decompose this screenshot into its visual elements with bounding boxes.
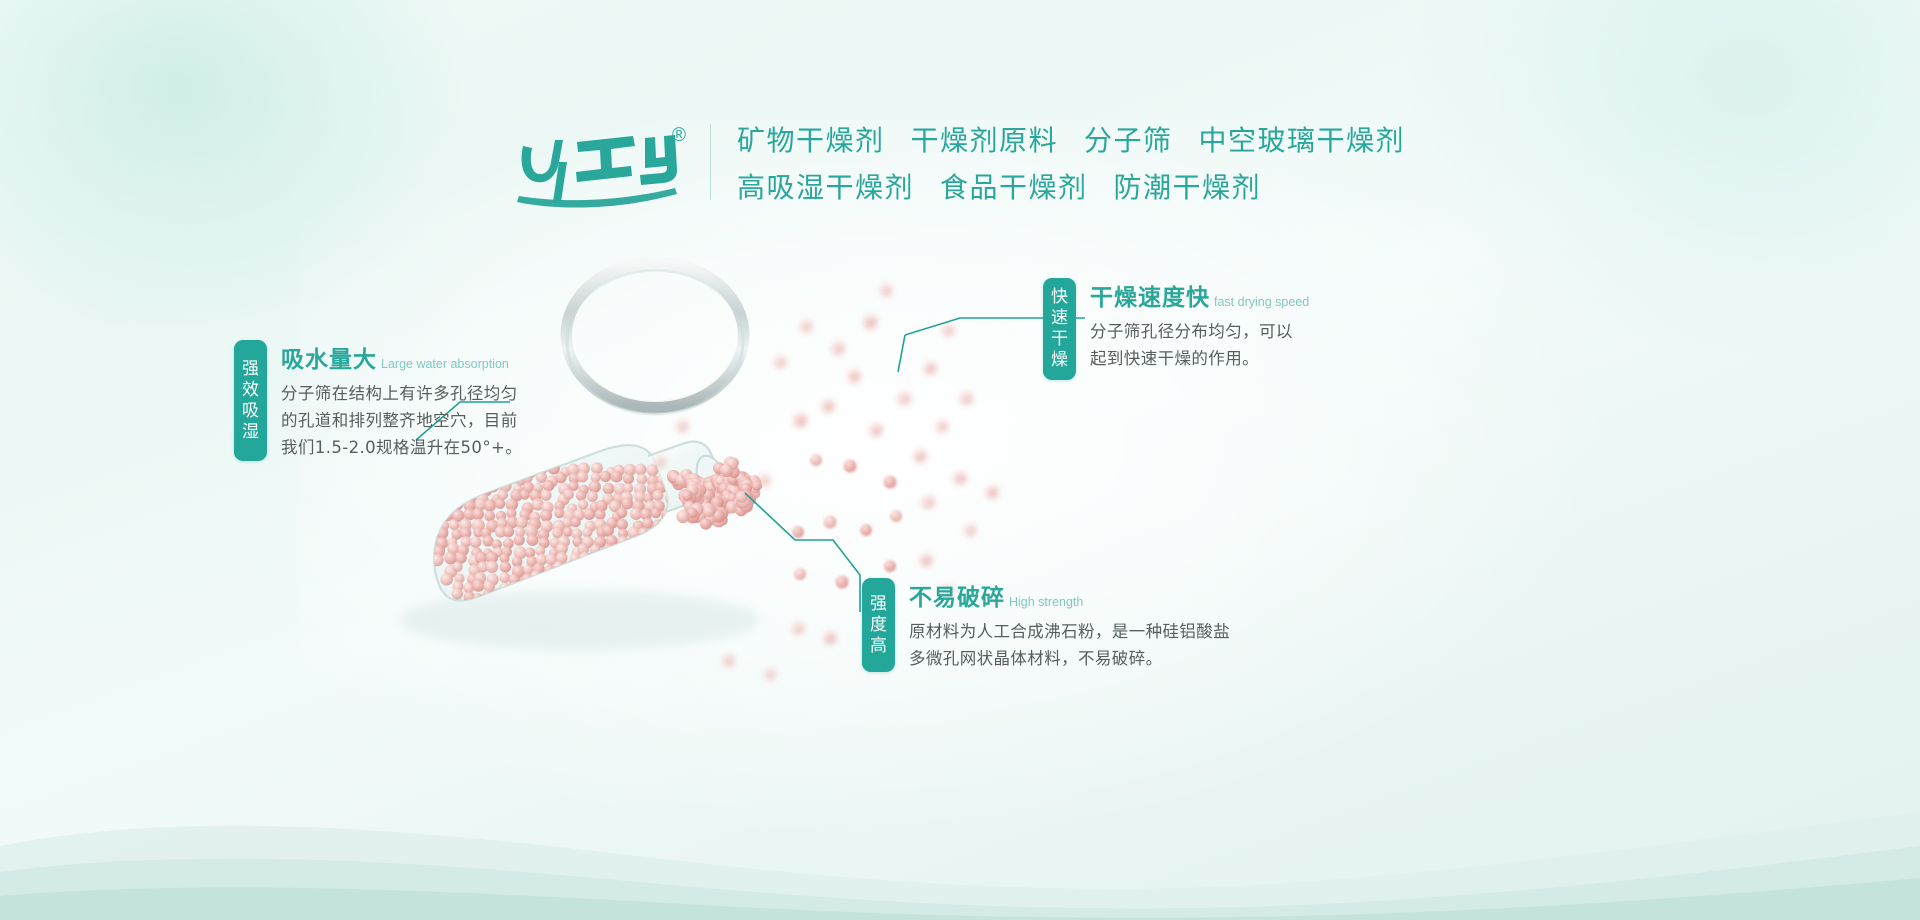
brand-logo[interactable]: ® xyxy=(502,116,692,208)
annotation-text: 原材料为人工合成沸石粉，是一种硅铝酸盐 多微孔网状晶体材料，不易破碎。 xyxy=(909,618,1230,672)
metal-lid-ring xyxy=(567,263,743,414)
badge-fast-drying: 快 速 干 燥 xyxy=(1043,278,1076,380)
annotation-fast-drying-speed: 快 速 干 燥 干燥速度快 fast drying speed 分子筛孔径分布均… xyxy=(1043,278,1309,380)
annotation-title: 不易破碎 xyxy=(909,578,1005,612)
annotation-high-strength: 强 度 高 不易破碎 High strength 原材料为人工合成沸石粉，是一种… xyxy=(862,578,1230,672)
annotation-text-line: 分子筛在结构上有许多孔径均匀 xyxy=(281,380,522,407)
annotation-text: 分子筛在结构上有许多孔径均匀 的孔道和排列整齐地空穴，目前 我们1.5-2.0规… xyxy=(281,380,522,461)
badge-char: 湿 xyxy=(242,422,259,443)
site-header: ® 矿物干燥剂 干燥剂原料 分子筛 中空玻璃干燥剂 高吸湿干燥剂 食品干燥剂 防… xyxy=(0,112,1920,212)
annotation-title: 吸水量大 xyxy=(281,340,377,374)
annotation-text-line: 多微孔网状晶体材料，不易破碎。 xyxy=(909,645,1230,672)
keyword-nav-row: 高吸湿干燥剂 食品干燥剂 防潮干燥剂 xyxy=(737,166,1418,206)
nav-item-food-desiccant[interactable]: 食品干燥剂 xyxy=(927,166,1101,206)
annotation-subtitle: High strength xyxy=(1009,595,1083,612)
banner-stage: ® 矿物干燥剂 干燥剂原料 分子筛 中空玻璃干燥剂 高吸湿干燥剂 食品干燥剂 防… xyxy=(0,0,1920,920)
annotation-text-line: 我们1.5-2.0规格温升在50°+。 xyxy=(281,434,522,461)
nav-item-insulating-glass-desiccant[interactable]: 中空玻璃干燥剂 xyxy=(1186,119,1419,159)
annotation-title: 干燥速度快 xyxy=(1090,278,1210,312)
badge-char: 强 xyxy=(242,359,259,380)
annotation-subtitle: Large water absorption xyxy=(381,357,509,374)
badge-char: 强 xyxy=(870,594,887,615)
bottom-wave-decoration xyxy=(0,750,1920,920)
badge-char: 效 xyxy=(242,380,259,401)
badge-strong-moisture-absorption: 强 效 吸 湿 xyxy=(234,340,267,461)
nav-item-mineral-desiccant[interactable]: 矿物干燥剂 xyxy=(737,119,898,159)
yaao-logo-icon xyxy=(507,118,687,208)
annotation-text: 分子筛孔径分布均匀，可以 起到快速干燥的作用。 xyxy=(1090,318,1309,372)
badge-char: 速 xyxy=(1051,308,1068,329)
annotation-text-line: 原材料为人工合成沸石粉，是一种硅铝酸盐 xyxy=(909,618,1230,645)
nav-item-moisture-proof-desiccant[interactable]: 防潮干燥剂 xyxy=(1101,166,1275,206)
annotation-text-line: 起到快速干燥的作用。 xyxy=(1090,345,1309,372)
registered-trademark-icon: ® xyxy=(672,126,686,145)
nav-item-high-moisture-absorbing-desiccant[interactable]: 高吸湿干燥剂 xyxy=(737,166,927,206)
annotation-subtitle: fast drying speed xyxy=(1214,295,1309,312)
badge-char: 吸 xyxy=(242,401,259,422)
annotation-text-line: 的孔道和排列整齐地空穴，目前 xyxy=(281,407,522,434)
nav-item-desiccant-raw-material[interactable]: 干燥剂原料 xyxy=(897,119,1071,159)
badge-high-strength: 强 度 高 xyxy=(862,578,895,672)
header-divider xyxy=(710,124,711,200)
nav-item-molecular-sieve[interactable]: 分子筛 xyxy=(1071,119,1186,159)
keyword-nav: 矿物干燥剂 干燥剂原料 分子筛 中空玻璃干燥剂 高吸湿干燥剂 食品干燥剂 防潮干… xyxy=(737,119,1418,206)
badge-char: 快 xyxy=(1051,287,1068,308)
badge-char: 干 xyxy=(1051,329,1068,350)
badge-char: 燥 xyxy=(1051,350,1068,371)
keyword-nav-row: 矿物干燥剂 干燥剂原料 分子筛 中空玻璃干燥剂 xyxy=(737,119,1418,159)
annotation-large-water-absorption: 强 效 吸 湿 吸水量大 Large water absorption 分子筛在… xyxy=(234,340,522,461)
badge-char: 高 xyxy=(870,636,887,657)
annotation-text-line: 分子筛孔径分布均匀，可以 xyxy=(1090,318,1309,345)
badge-char: 度 xyxy=(870,615,887,636)
